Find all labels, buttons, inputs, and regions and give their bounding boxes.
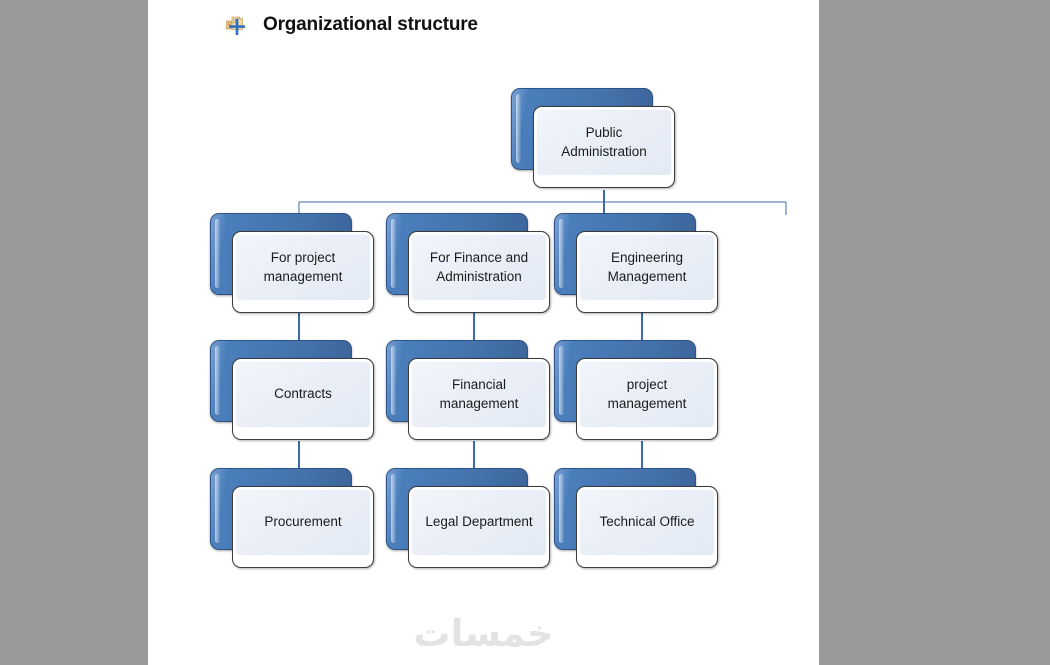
node-label: Contracts — [274, 385, 332, 404]
node-label-panel: For Finance and Administration — [411, 234, 547, 301]
node-label: For project management — [264, 249, 343, 286]
node-label: Engineering Management — [608, 249, 687, 286]
node-label-panel: Technical Office — [579, 489, 715, 556]
watermark: خمسات — [148, 612, 819, 655]
node-label-panel: Engineering Management — [579, 234, 715, 301]
document-page: Organizational structure — [148, 0, 819, 665]
node-label: Legal Department — [425, 513, 532, 532]
node-label: Financial management — [440, 376, 519, 413]
node-label: Procurement — [264, 513, 341, 532]
node-label: Technical Office — [599, 513, 694, 532]
node-label-panel: Contracts — [235, 361, 371, 428]
node-label-panel: Financial management — [411, 361, 547, 428]
org-chart: Public Administration For project manage… — [148, 0, 819, 665]
node-label: For Finance and Administration — [430, 249, 528, 286]
node-label-panel: Public Administration — [536, 109, 672, 176]
node-label-panel: Legal Department — [411, 489, 547, 556]
node-label-panel: project management — [579, 361, 715, 428]
node-label-panel: Procurement — [235, 489, 371, 556]
node-label: project management — [608, 376, 687, 413]
node-label: Public Administration — [543, 124, 665, 161]
node-label-panel: For project management — [235, 234, 371, 301]
